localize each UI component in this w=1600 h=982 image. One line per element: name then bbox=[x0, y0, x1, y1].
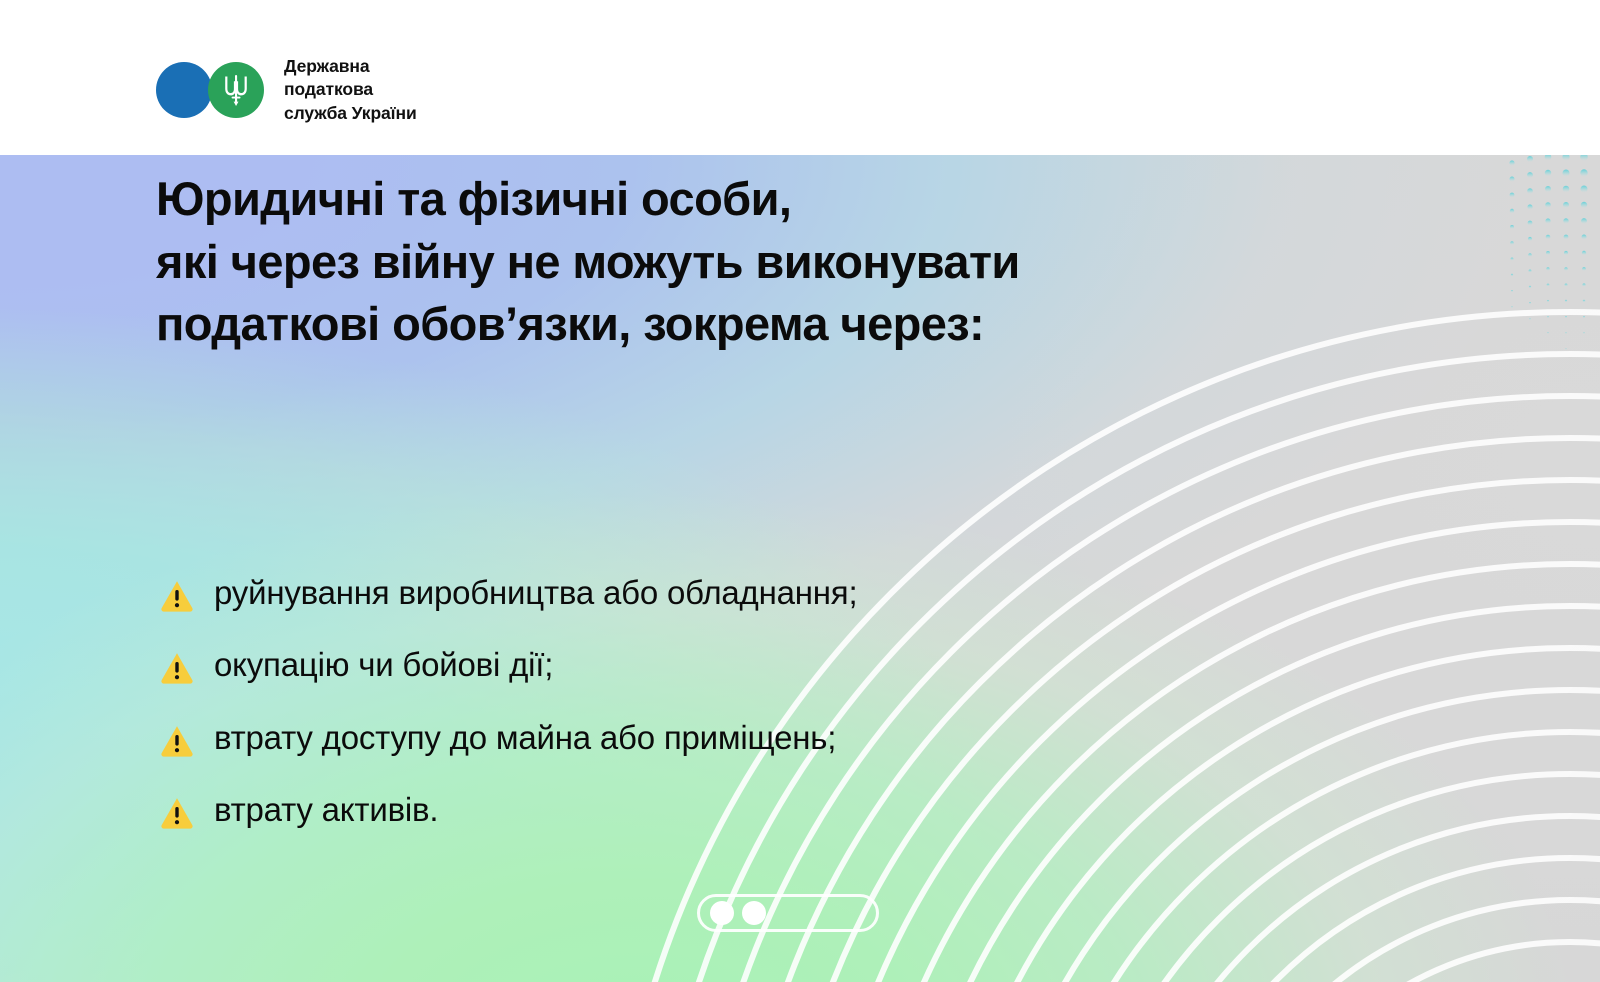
warning-triangle-icon bbox=[160, 723, 194, 757]
pagination-dot-2[interactable] bbox=[742, 901, 766, 925]
ukraine-trident-icon bbox=[208, 62, 264, 118]
list-item-label: окупацію чи бойові дії; bbox=[214, 644, 553, 685]
header-bar: Державна податкова служба України bbox=[0, 0, 1600, 155]
list-item: руйнування виробництва або обладнання; bbox=[160, 572, 1340, 613]
list-item-label: втрату доступу до майна або приміщень; bbox=[214, 717, 836, 758]
warning-triangle-icon bbox=[160, 578, 194, 612]
warning-triangle-icon bbox=[160, 650, 194, 684]
tax-service-logo[interactable]: Державна податкова служба України bbox=[156, 55, 417, 125]
page-subtitle: Юридичні та фізичні особи, які через вій… bbox=[156, 168, 1396, 356]
list-item: втрату активів. bbox=[160, 789, 1340, 830]
pagination-indicator[interactable] bbox=[697, 894, 879, 932]
logo-text-line-3: служба України bbox=[284, 102, 417, 125]
bullet-list: руйнування виробництва або обладнання; о… bbox=[160, 572, 1340, 830]
logo-blue-circle-icon bbox=[156, 62, 212, 118]
logo-marks bbox=[156, 60, 274, 120]
warning-triangle-icon bbox=[160, 795, 194, 829]
list-item-label: втрату активів. bbox=[214, 789, 438, 830]
logo-text-line-2: податкова bbox=[284, 78, 417, 101]
slide: Державна податкова служба України Для ко… bbox=[0, 0, 1600, 982]
logo-text: Державна податкова служба України bbox=[284, 55, 417, 125]
list-item-label: руйнування виробництва або обладнання; bbox=[214, 572, 857, 613]
pagination-dot-1[interactable] bbox=[710, 901, 734, 925]
logo-text-line-1: Державна bbox=[284, 55, 417, 78]
list-item: втрату доступу до майна або приміщень; bbox=[160, 717, 1340, 758]
list-item: окупацію чи бойові дії; bbox=[160, 644, 1340, 685]
